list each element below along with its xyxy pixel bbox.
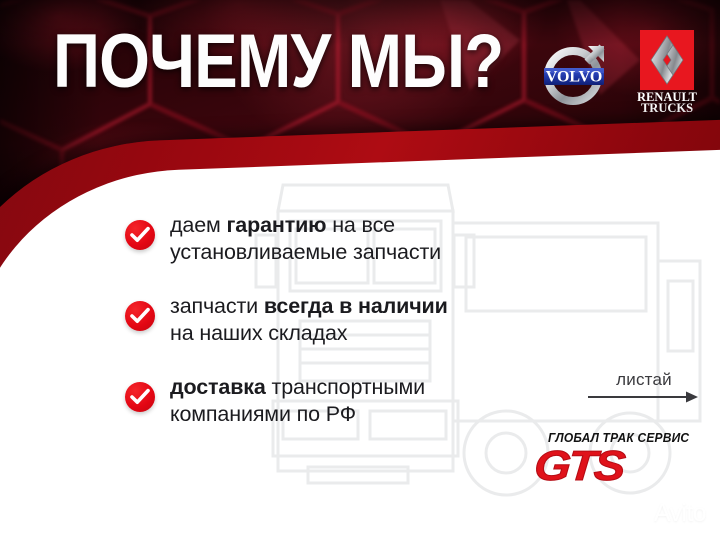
volvo-logo: VOLVO — [540, 35, 614, 109]
benefit-text: запчасти всегда в наличии на наших склад… — [170, 293, 448, 347]
benefit-line2: компаниями по РФ — [170, 402, 356, 426]
brand-logos: VOLVO RENAULT — [540, 30, 698, 114]
arrow-right-icon — [588, 390, 700, 404]
benefit-line2: установливаемые запчасти — [170, 240, 441, 264]
benefit-line1-pre: даем — [170, 213, 226, 237]
avito-wordmark: Avito — [654, 499, 706, 528]
check-circle-icon — [125, 382, 155, 412]
benefit-text: даем гарантию на все установливаемые зап… — [170, 212, 441, 266]
check-circle-icon — [125, 301, 155, 331]
benefit-line1-bold: доставка — [170, 375, 266, 399]
company-logo: ГЛОБАЛ ТРАК СЕРВИС GTS — [536, 431, 702, 487]
benefit-line1-bold: гарантию — [226, 213, 326, 237]
list-item: доставка транспортными компаниями по РФ — [125, 374, 545, 428]
benefit-line1-bold: всегда в наличии — [264, 294, 448, 318]
renault-trucks-logo: RENAULT TRUCKS — [636, 30, 698, 114]
trucks-wordmark: TRUCKS — [641, 101, 693, 114]
list-item: запчасти всегда в наличии на наших склад… — [125, 293, 545, 347]
benefit-line1-post: транспортными — [266, 375, 425, 399]
company-acronym: GTS — [533, 446, 720, 486]
page-title: ПОЧЕМУ МЫ? — [53, 24, 503, 100]
check-circle-icon — [125, 220, 155, 250]
list-item: даем гарантию на все установливаемые зап… — [125, 212, 545, 266]
benefits-list: даем гарантию на все установливаемые зап… — [125, 212, 545, 455]
swipe-hint[interactable]: листай — [588, 371, 700, 404]
benefit-line2: на наших складах — [170, 321, 347, 345]
benefit-line1-post: на все — [326, 213, 395, 237]
promo-slide: ПОЧЕМУ МЫ? — [0, 0, 720, 540]
avito-dots-icon — [626, 503, 650, 525]
benefit-text: доставка транспортными компаниями по РФ — [170, 374, 425, 428]
avito-watermark: Avito — [626, 499, 706, 528]
benefit-line1-pre: запчасти — [170, 294, 264, 318]
volvo-wordmark: VOLVO — [546, 69, 603, 86]
swipe-hint-label: листай — [588, 371, 700, 389]
